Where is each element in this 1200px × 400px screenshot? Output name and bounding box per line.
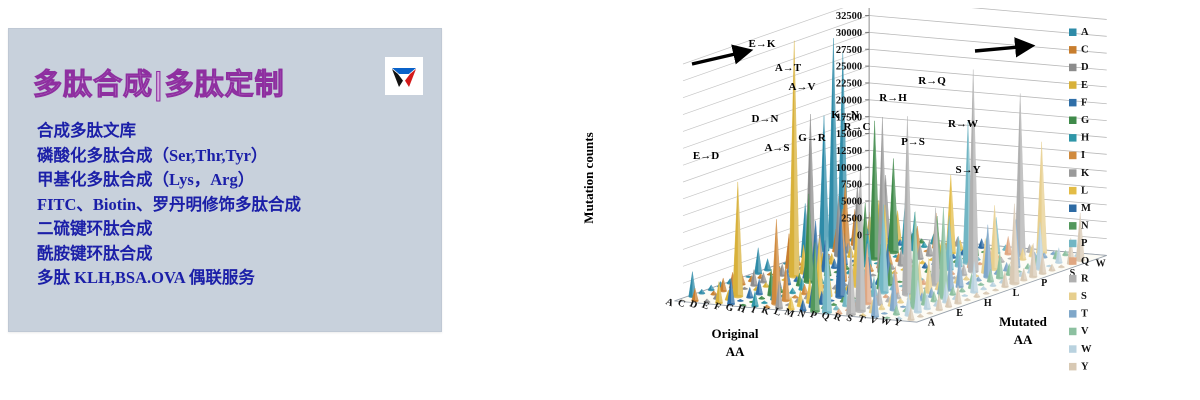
legend-swatch	[1069, 152, 1077, 160]
legend-label: N	[1081, 221, 1089, 232]
svg-text:D→N: D→N	[752, 113, 779, 125]
legend-swatch	[1069, 64, 1077, 71]
list-item: 合成多肽文库	[37, 119, 417, 144]
legend-label: T	[1081, 309, 1088, 320]
svg-text:A→V: A→V	[789, 81, 816, 93]
legend-swatch	[1069, 257, 1077, 265]
svg-text:30000: 30000	[836, 28, 862, 39]
svg-text:Mutated: Mutated	[999, 314, 1047, 329]
svg-text:0: 0	[857, 230, 862, 241]
legend-label: H	[1081, 133, 1089, 144]
list-item: 二硫键环肽合成	[37, 217, 417, 242]
legend-label: F	[1081, 97, 1087, 108]
legend-label: W	[1081, 344, 1092, 355]
svg-text:H: H	[984, 298, 992, 309]
legend-swatch	[1069, 205, 1077, 213]
list-item: FITC、Biotin、罗丹明修饰多肽合成	[37, 193, 417, 218]
service-list: 合成多肽文库 磷酸化多肽合成（Ser,Thr,Tyr） 甲基化多肽合成（Lys，…	[37, 119, 417, 291]
promo-panel: 多肽合成|多肽定制 合成多肽文库 磷酸化多肽合成（Ser,Thr,Tyr） 甲基…	[8, 28, 442, 332]
legend-label: S	[1081, 291, 1087, 302]
svg-text:E→D: E→D	[693, 150, 719, 162]
legend-swatch	[1069, 275, 1077, 283]
legend-swatch	[1069, 187, 1077, 195]
legend-label: P	[1081, 238, 1088, 249]
legend-label: M	[1081, 203, 1091, 214]
legend-swatch	[1069, 363, 1077, 371]
legend-swatch	[1069, 328, 1077, 336]
svg-text:R→C: R→C	[844, 121, 871, 133]
legend-label: D	[1081, 62, 1089, 73]
legend-swatch	[1069, 46, 1077, 54]
svg-text:R→Q: R→Q	[918, 75, 946, 87]
legend-label: E	[1081, 80, 1088, 91]
legend-label: Y	[1081, 361, 1089, 372]
legend-label: I	[1081, 150, 1085, 161]
svg-text:5000: 5000	[841, 197, 862, 208]
svg-text:E→K: E→K	[749, 38, 776, 50]
triangle-logo-icon	[385, 57, 423, 95]
svg-text:E: E	[956, 308, 963, 319]
svg-text:22500: 22500	[836, 79, 862, 90]
list-item: 多肽 KLH,BSA.OVA 偶联服务	[37, 266, 417, 291]
mutation-counts-3d-chart: 3500032500300002750025000225002000017500…	[575, 8, 1195, 396]
svg-text:G→R: G→R	[798, 132, 827, 144]
svg-text:A: A	[928, 318, 936, 329]
legend-swatch	[1069, 169, 1077, 177]
svg-text:AA: AA	[726, 344, 745, 359]
svg-text:L: L	[1013, 288, 1020, 299]
legend-swatch	[1069, 310, 1077, 318]
legend-label: A	[1081, 27, 1089, 38]
legend-swatch	[1069, 240, 1077, 248]
legend-label: C	[1081, 45, 1089, 56]
legend-label: L	[1081, 185, 1088, 196]
svg-text:10000: 10000	[836, 163, 862, 174]
legend-swatch	[1069, 117, 1077, 125]
legend-swatch	[1069, 29, 1077, 37]
svg-text:AA: AA	[1014, 332, 1033, 347]
legend-swatch	[1069, 99, 1077, 107]
svg-text:P→S: P→S	[901, 136, 925, 148]
list-item: 磷酸化多肽合成（Ser,Thr,Tyr）	[37, 144, 417, 169]
svg-text:25000: 25000	[836, 62, 862, 73]
svg-text:7500: 7500	[841, 180, 862, 191]
svg-text:20000: 20000	[836, 95, 862, 106]
legend-swatch	[1069, 293, 1077, 301]
legend-label: G	[1081, 115, 1089, 126]
screenshot-root: 多肽合成|多肽定制 合成多肽文库 磷酸化多肽合成（Ser,Thr,Tyr） 甲基…	[0, 0, 1200, 400]
svg-text:S→Y: S→Y	[955, 164, 980, 176]
svg-text:P: P	[1041, 278, 1047, 289]
legend-label: Q	[1081, 256, 1089, 267]
list-item: 酰胺键环肽合成	[37, 242, 417, 267]
svg-text:K→N: K→N	[831, 109, 859, 121]
legend-swatch	[1069, 134, 1077, 142]
legend-label: V	[1081, 326, 1089, 337]
svg-text:2500: 2500	[841, 213, 862, 224]
legend-swatch	[1069, 222, 1077, 230]
legend-label: K	[1081, 168, 1090, 179]
svg-text:R→H: R→H	[879, 92, 907, 104]
svg-text:32500: 32500	[836, 11, 862, 22]
svg-text:Mutation counts: Mutation counts	[581, 132, 596, 223]
page-title: 多肽合成|多肽定制	[33, 61, 285, 103]
svg-text:A→T: A→T	[775, 62, 802, 74]
chart-canvas: 3500032500300002750025000225002000017500…	[575, 8, 1195, 396]
list-item: 甲基化多肽合成（Lys，Arg）	[37, 168, 417, 193]
legend-swatch	[1069, 81, 1077, 89]
svg-text:A→S: A→S	[764, 142, 789, 154]
svg-text:Original: Original	[712, 326, 759, 341]
svg-text:W: W	[1096, 258, 1106, 269]
svg-text:R→W: R→W	[948, 118, 978, 130]
legend-swatch	[1069, 345, 1077, 353]
svg-text:12500: 12500	[836, 146, 862, 157]
svg-text:27500: 27500	[836, 45, 862, 56]
legend-label: R	[1081, 273, 1089, 284]
